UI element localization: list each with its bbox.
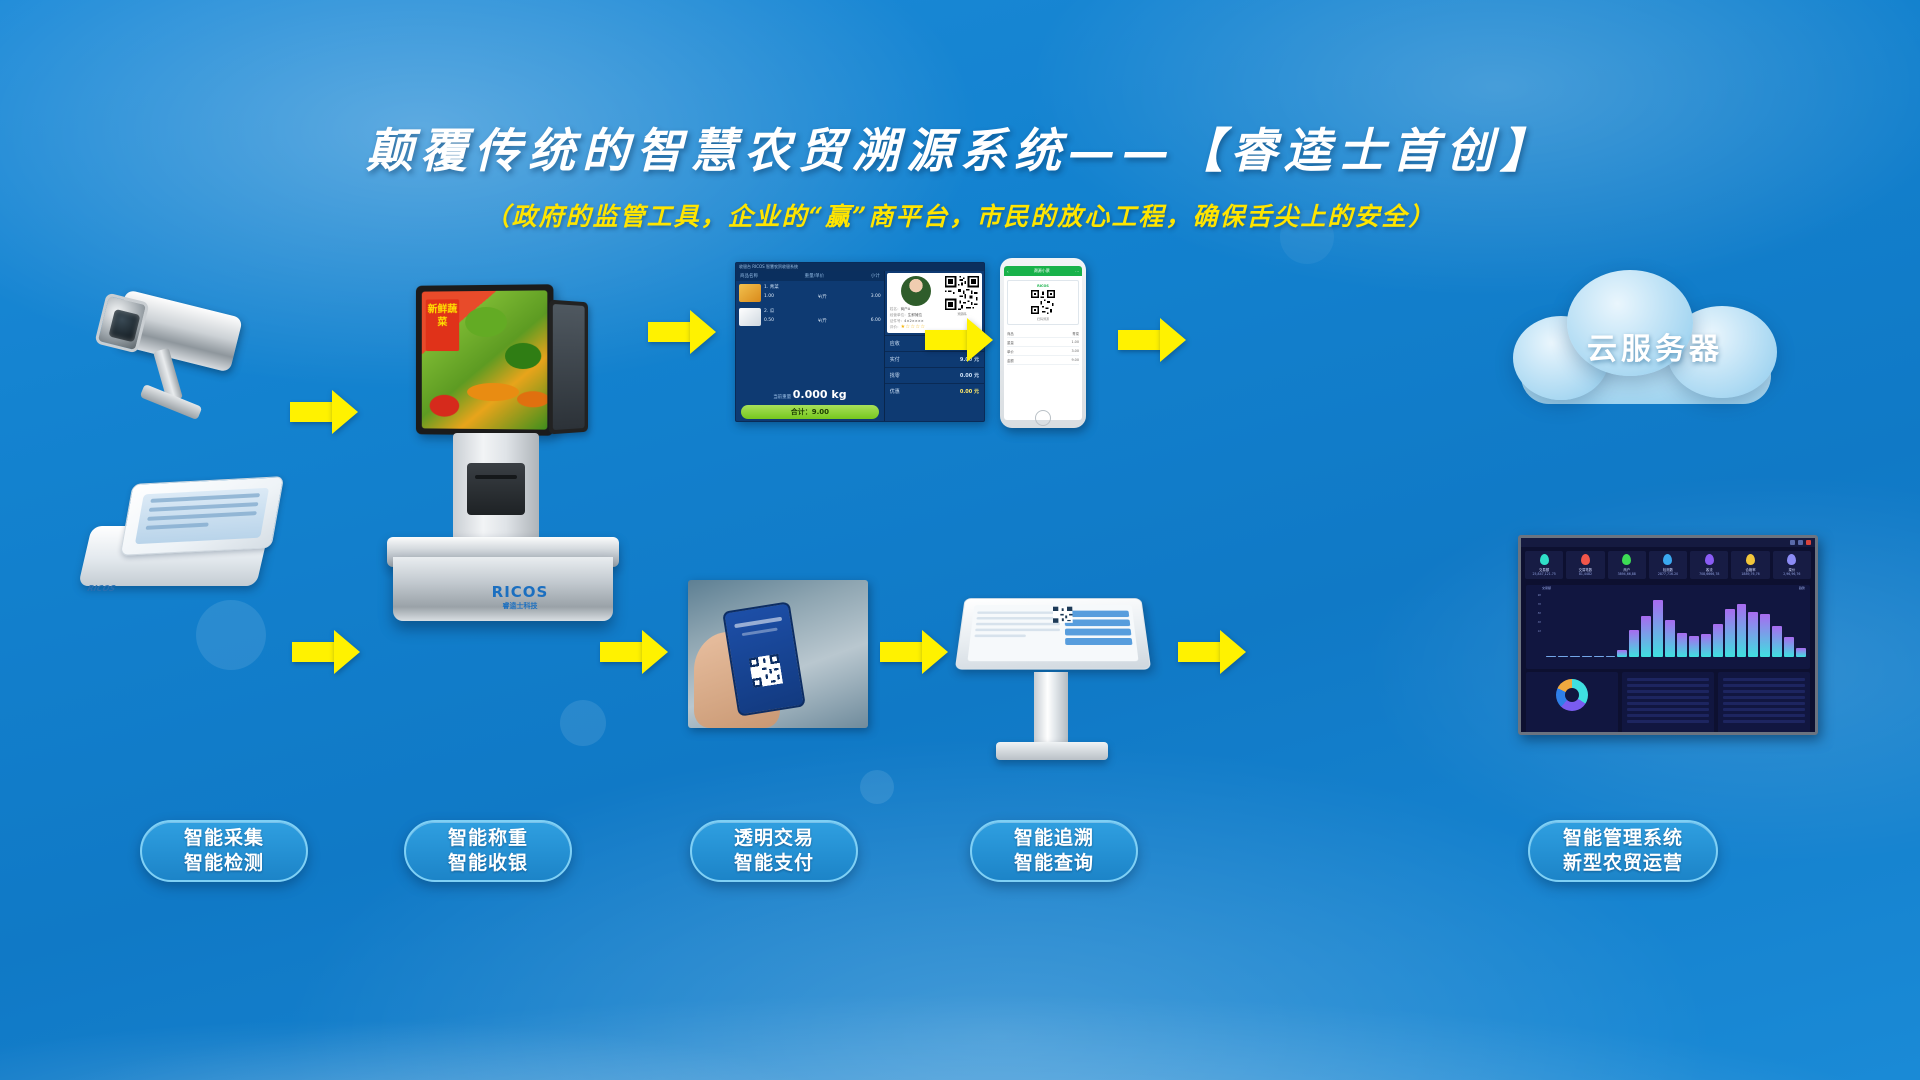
donut-panel xyxy=(1526,672,1618,735)
phone-trace-card: RICOS 扫码溯源 xyxy=(1007,280,1079,325)
kpi-dot-icon xyxy=(1663,554,1672,565)
fee-label: 实付 xyxy=(890,356,900,363)
pill-line-1: 透明交易 xyxy=(734,826,814,851)
pill-line-1: 智能采集 xyxy=(184,826,264,851)
kpi-card[interactable]: 菜价2,96,96,76 xyxy=(1773,551,1811,579)
kpi-row: 交易额25,847,121.75 交易笔数81,4482 商户3894,66,8… xyxy=(1521,547,1815,583)
chart-bar xyxy=(1629,630,1639,657)
row-weight: 1.00 xyxy=(764,294,774,300)
fee-label: 找零 xyxy=(890,372,900,379)
dashboard-panels xyxy=(1526,672,1810,735)
kpi-value: 2,96,96,76 xyxy=(1774,572,1810,576)
kpi-dot-icon xyxy=(1787,554,1796,565)
node-dashboard-monitor: 交易额25,847,121.75 交易笔数81,4482 商户3894,66,8… xyxy=(1518,535,1818,735)
chart-bar xyxy=(1784,637,1794,657)
total-label: 合计： xyxy=(791,407,812,417)
kiosk-qr-code-icon xyxy=(1053,607,1073,623)
kpi-dot-icon xyxy=(1705,554,1714,565)
back-icon[interactable]: ‹ xyxy=(1007,269,1009,274)
kiosk-stand xyxy=(1034,672,1068,748)
chart-bar xyxy=(1677,633,1687,657)
field-label: 评价： xyxy=(890,325,901,329)
arrow-phone-to-cloud xyxy=(1118,318,1188,362)
row-unit: ¥/斤 xyxy=(818,318,827,324)
chart-bar xyxy=(1689,636,1699,657)
fee-label: 应收 xyxy=(890,340,900,347)
arrow-shaft xyxy=(1178,642,1222,662)
kpi-card[interactable]: 交易额25,847,121.75 xyxy=(1525,551,1563,579)
scale-brand-logo: RICOS 睿逵士科技 xyxy=(492,583,549,611)
ranking-table-panel xyxy=(1622,672,1714,735)
field-value: 商户A xyxy=(901,307,911,311)
chart-bar xyxy=(1594,656,1604,657)
weight-value: 0.000 kg xyxy=(793,388,847,401)
kpi-value: 25,847,121.75 xyxy=(1526,572,1562,576)
chart-bar xyxy=(1713,624,1723,657)
fee-row: 优惠 0.00 元 xyxy=(885,383,984,399)
arrow-shaft xyxy=(880,642,924,662)
donut-chart xyxy=(1556,679,1588,711)
row-name: 瓜 xyxy=(770,309,775,314)
fee-value: 0.00 元 xyxy=(960,388,979,395)
window-close-icon[interactable] xyxy=(1806,540,1811,545)
col-amount: 小计 xyxy=(871,273,880,279)
phone-qr-caption: 扫码溯源 xyxy=(1011,317,1075,321)
chart-bar xyxy=(1701,634,1711,657)
vendor-qr-code-icon xyxy=(945,276,979,310)
cart-row[interactable]: 2. 瓜 0.50 ¥/斤 6.00 xyxy=(736,305,884,329)
row-index: 1 xyxy=(764,285,767,290)
node-pos-scale: 新鲜蔬菜 RICOS 睿逵士科技 xyxy=(405,285,635,645)
arrow-shaft xyxy=(1118,330,1162,350)
node-query-kiosk xyxy=(960,590,1150,770)
node-mobile-payment xyxy=(688,580,868,728)
field-label: 经营单位： xyxy=(890,313,908,317)
arrow-scale-to-software xyxy=(648,310,718,354)
kpi-value: 3894,66,88 xyxy=(1609,572,1645,576)
phone-text-line xyxy=(742,628,778,637)
arrow-camera-to-scale xyxy=(290,390,360,434)
veg-blob xyxy=(505,343,541,369)
arrow-head-icon xyxy=(642,630,668,674)
product-thumbnail xyxy=(739,308,761,326)
veg-blob xyxy=(430,395,460,417)
row-val: 9.00 xyxy=(1071,358,1079,363)
rating-stars: ★☆☆☆☆ xyxy=(901,324,926,330)
kiosk-text-column xyxy=(972,608,1060,657)
arrow-detector-to-scale xyxy=(292,630,362,674)
flow-diagram: 新鲜蔬菜 RICOS 睿逵士科技 收银台 RICOS 智慧农贸收银系统 xyxy=(0,0,1920,1080)
dashboard-bar-chart: 交易额 趋势 9070503010 xyxy=(1526,585,1810,669)
cart-row[interactable]: 1. 青菜 1.00 ¥/斤 3.00 xyxy=(736,281,884,305)
row-weight: 0.50 xyxy=(764,318,774,324)
kpi-dot-icon xyxy=(1622,554,1631,565)
phone-row: 金额9.00 xyxy=(1007,356,1079,365)
vendor-avatar xyxy=(901,276,931,306)
receipt-printer xyxy=(467,463,525,515)
chart-bar xyxy=(1570,656,1580,657)
total-value: 9.00 xyxy=(812,408,829,416)
kiosk-base xyxy=(996,742,1108,760)
chart-bar xyxy=(1772,626,1782,657)
kpi-dot-icon xyxy=(1581,554,1590,565)
phone-title: 溯源小票 xyxy=(1034,268,1050,274)
pill-line-2: 智能检测 xyxy=(184,851,264,876)
vegetable-poster-image: 新鲜蔬菜 xyxy=(422,290,548,429)
phone-qr-code-icon xyxy=(1031,290,1055,314)
chart-bar xyxy=(1665,620,1675,657)
row-name: 青菜 xyxy=(770,285,779,290)
chart-bar xyxy=(1748,612,1758,658)
chart-title: 交易额 xyxy=(1542,586,1551,590)
qr-caption: 溯源码 xyxy=(945,312,979,316)
arrow-shaft xyxy=(290,402,334,422)
pill-line-2: 新型农贸运营 xyxy=(1563,851,1683,876)
node-cloud-server: 云服务器 xyxy=(1505,268,1805,418)
brand-name-cn: 睿逵士科技 xyxy=(492,601,549,611)
pos-main-display: 新鲜蔬菜 xyxy=(416,284,553,436)
fee-label: 优惠 xyxy=(890,388,900,395)
veg-blob xyxy=(517,391,547,407)
kpi-card[interactable]: 交易笔数81,4482 xyxy=(1566,551,1604,579)
chart-bar xyxy=(1546,656,1556,657)
node-camera xyxy=(100,285,280,425)
cloud-server-label: 云服务器 xyxy=(1505,324,1805,368)
phone-text-line xyxy=(734,617,782,628)
row-index: 2 xyxy=(764,309,767,314)
row-val: 青菜 xyxy=(1072,331,1079,336)
pill-line-1: 智能追溯 xyxy=(1014,826,1094,851)
kiosk-button-column[interactable] xyxy=(1065,608,1134,657)
pill-line-2: 智能收银 xyxy=(448,851,528,876)
payment-qr-code-icon xyxy=(749,654,783,688)
phone-navbar: ‹ 溯源小票 ⋯ xyxy=(1004,266,1082,276)
checkout-total-button[interactable]: 合计： 9.00 xyxy=(741,405,879,419)
field-value: 4×2×××× xyxy=(904,319,924,323)
chart-bars xyxy=(1530,593,1806,657)
window-control-icon[interactable] xyxy=(1798,540,1803,545)
chart-bar xyxy=(1653,600,1663,657)
fee-value: 0.00 元 xyxy=(960,372,979,379)
chart-bar xyxy=(1558,656,1568,657)
veg-blob xyxy=(467,383,519,401)
arrow-head-icon xyxy=(967,318,993,362)
chart-bar xyxy=(1760,614,1770,657)
kiosk-display xyxy=(955,598,1151,669)
dashboard-titlebar xyxy=(1521,538,1815,547)
detector-screen xyxy=(135,488,269,544)
product-thumbnail xyxy=(739,284,761,302)
arrow-payment-to-kiosk xyxy=(880,630,950,674)
chart-bar xyxy=(1737,604,1747,657)
detector-lid xyxy=(120,476,284,556)
chart-bar xyxy=(1796,648,1806,657)
kpi-value: 2877,716.20 xyxy=(1650,572,1686,576)
pill-label-weighing[interactable]: 智能称重 智能收银 xyxy=(404,820,572,882)
fee-row: 找零 0.00 元 xyxy=(885,367,984,383)
row-val: 3.00 xyxy=(1071,349,1079,354)
cart-header: 商品名称 重量/单价 小计 xyxy=(736,271,884,281)
records-table-panel xyxy=(1718,672,1810,735)
row-key: 单价 xyxy=(1007,349,1014,354)
phone-row: 重量1.00 xyxy=(1007,338,1079,347)
pill-line-2: 智能支付 xyxy=(734,851,814,876)
chart-bar xyxy=(1641,616,1651,657)
cart-panel: 商品名称 重量/单价 小计 1. 青菜 1.00 ¥/斤 3 xyxy=(736,271,885,422)
pill-line-1: 智能管理系统 xyxy=(1563,826,1683,851)
arrow-software-to-phone xyxy=(925,318,995,362)
phone-detail-table: 商品青菜 重量1.00 单价3.00 金额9.00 xyxy=(1007,329,1079,365)
detector-brand-label: RICOS xyxy=(85,584,117,593)
software-title: 收银台 RICOS 智慧农贸收银系统 xyxy=(739,264,798,270)
pill-line-2: 智能查询 xyxy=(1014,851,1094,876)
field-label: 证件号： xyxy=(890,319,904,323)
row-key: 商品 xyxy=(1007,331,1014,336)
menu-icon[interactable]: ⋯ xyxy=(1075,269,1079,274)
pos-customer-display xyxy=(549,300,588,435)
kpi-card[interactable]: 检测数2877,716.20 xyxy=(1649,551,1687,579)
chart-legend: 趋势 xyxy=(1799,586,1805,590)
chart-bar xyxy=(1617,650,1627,657)
pill-label-collection[interactable]: 智能采集 智能检测 xyxy=(140,820,308,882)
row-unit: ¥/斤 xyxy=(818,294,827,300)
field-value: 生鲜摊位 xyxy=(908,313,922,317)
chart-bar xyxy=(1582,656,1592,657)
node-detector: RICOS xyxy=(85,480,295,610)
veg-blob xyxy=(465,307,507,337)
pill-label-traceability[interactable]: 智能追溯 智能查询 xyxy=(970,820,1138,882)
arrow-shaft xyxy=(648,322,692,342)
arrow-scale-to-payment xyxy=(600,630,670,674)
col-name: 商品名称 xyxy=(740,273,758,279)
row-key: 重量 xyxy=(1007,340,1014,345)
kpi-dot-icon xyxy=(1746,554,1755,565)
kpi-card[interactable]: 客流708,6666,78 xyxy=(1690,551,1728,579)
pill-label-management[interactable]: 智能管理系统 新型农贸运营 xyxy=(1528,820,1718,882)
kpi-card[interactable]: 商户3894,66,88 xyxy=(1608,551,1646,579)
arrow-head-icon xyxy=(690,310,716,354)
arrow-shaft xyxy=(292,642,336,662)
field-label: 姓名： xyxy=(890,307,901,311)
kpi-value: 1889,76,76 xyxy=(1732,572,1768,576)
window-control-icon[interactable] xyxy=(1790,540,1795,545)
chart-y-axis: 9070503010 xyxy=(1529,591,1541,657)
software-titlebar: 收银台 RICOS 智慧农贸收银系统 xyxy=(736,263,984,271)
pill-line-1: 智能称重 xyxy=(448,826,528,851)
col-weight: 重量/单价 xyxy=(805,273,825,279)
row-amount: 6.00 xyxy=(871,318,881,324)
poster-tag: 新鲜蔬菜 xyxy=(426,299,459,351)
row-amount: 3.00 xyxy=(871,294,881,300)
weight-label: 当前重量 xyxy=(773,395,791,400)
pill-label-transaction[interactable]: 透明交易 智能支付 xyxy=(690,820,858,882)
arrow-head-icon xyxy=(334,630,360,674)
brand-name: RICOS xyxy=(492,583,549,601)
arrow-head-icon xyxy=(332,390,358,434)
kpi-value: 708,6666,78 xyxy=(1691,572,1727,576)
weight-readout: 当前重量 0.000 kg xyxy=(736,388,884,401)
row-val: 1.00 xyxy=(1071,340,1079,345)
chart-bar xyxy=(1606,656,1616,657)
arrow-head-icon xyxy=(1160,318,1186,362)
kpi-card[interactable]: 合格率1889,76,76 xyxy=(1731,551,1769,579)
chart-bar xyxy=(1725,609,1735,657)
node-phone-receipt: ‹ 溯源小票 ⋯ RICOS xyxy=(1000,258,1086,428)
kpi-dot-icon xyxy=(1540,554,1549,565)
row-key: 金额 xyxy=(1007,358,1014,363)
phone-home-button[interactable] xyxy=(1035,410,1051,426)
kpi-value: 81,4482 xyxy=(1567,572,1603,576)
arrow-head-icon xyxy=(922,630,948,674)
arrow-shaft xyxy=(600,642,644,662)
arrow-head-icon xyxy=(1220,630,1246,674)
phone-screen: ‹ 溯源小票 ⋯ RICOS xyxy=(1004,266,1082,420)
phone-row: 商品青菜 xyxy=(1007,329,1079,338)
arrow-shaft xyxy=(925,330,969,350)
phone-row: 单价3.00 xyxy=(1007,347,1079,356)
arrow-kiosk-to-dashboard xyxy=(1178,630,1248,674)
